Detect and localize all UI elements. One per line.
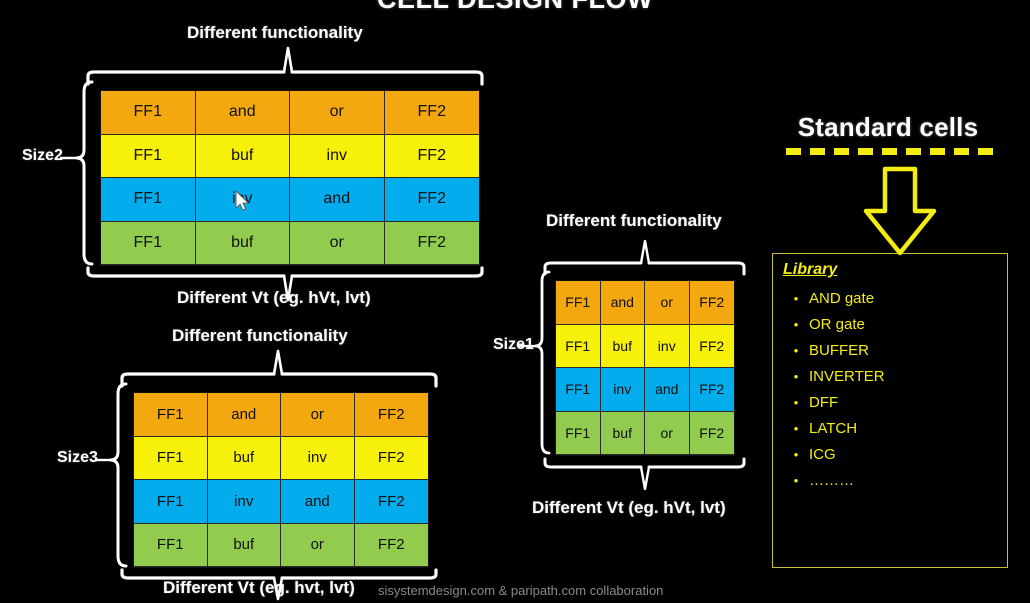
table-cell: FF1 [556,412,601,456]
table-cell: buf [208,437,282,481]
list-item-label: DFF [809,390,838,416]
table-cell: FF2 [355,480,429,524]
list-item: • ICG [783,442,998,468]
list-item-label: BUFFER [809,338,869,364]
table-cell: FF2 [690,368,735,412]
table-cell: FF2 [385,135,480,179]
caption-different-functionality-size3: Different functionality [172,326,348,346]
caption-different-functionality-size1: Different functionality [546,211,722,231]
list-item-label: AND gate [809,286,874,312]
table-cell: or [645,281,690,325]
table-cell: inv [290,135,385,179]
table-cell: and [290,178,385,222]
table-cell: FF1 [556,325,601,369]
table-cell: or [281,393,355,437]
table-cell: or [290,222,385,266]
table-cell: FF2 [385,91,480,135]
table-cell: FF1 [101,91,196,135]
label-size3: Size3 [57,449,98,467]
label-size1: Size1 [493,336,534,354]
bullet-icon: • [783,312,809,338]
list-item-label: ICG [809,442,836,468]
table-cell: or [281,524,355,568]
table-cell: FF2 [690,325,735,369]
table-cell: and [645,368,690,412]
standard-cells-heading: Standard cells [778,112,998,143]
page-title: CELL DESIGN FLOW [0,0,1030,15]
list-item: • OR gate [783,312,998,338]
table-cell: FF1 [556,368,601,412]
table-cell: FF1 [101,135,196,179]
list-item-label: INVERTER [809,364,885,390]
library-heading: Library [783,261,837,279]
library-list: • AND gate • OR gate • BUFFER • INVERTER… [783,286,998,494]
table-cell: FF1 [134,393,208,437]
slide-canvas: CELL DESIGN FLOW Different functionality… [0,0,1030,603]
table-cell: FF1 [101,178,196,222]
table-cell: FF2 [355,393,429,437]
table-cell: FF1 [134,480,208,524]
caption-different-vt-size3: Different Vt (eg. hvt, lvt) [163,578,355,598]
table-cell: and [601,281,646,325]
bullet-icon: • [783,364,809,390]
table-size2: FF1 and or FF2 FF1 buf inv FF2 FF1 inv a… [100,90,480,266]
table-cell: or [290,91,385,135]
table-cell: inv [208,480,282,524]
table-cell: FF2 [355,437,429,481]
table-cell: buf [208,524,282,568]
caption-different-vt-size2: Different Vt (eg. hVt, lvt) [177,288,371,308]
list-item: • INVERTER [783,364,998,390]
caption-different-vt-size1: Different Vt (eg. hVt, lvt) [532,498,726,518]
table-cell: or [645,412,690,456]
table-cell: and [208,393,282,437]
table-cell: FF2 [690,412,735,456]
table-cell: inv [281,437,355,481]
table-cell: inv [196,178,291,222]
table-cell: buf [601,412,646,456]
table-cell: FF2 [385,178,480,222]
table-cell: FF2 [690,281,735,325]
list-item: • ……… [783,468,998,494]
list-item: • DFF [783,390,998,416]
list-item: • BUFFER [783,338,998,364]
table-cell: buf [601,325,646,369]
down-arrow-icon [866,169,934,253]
label-size2: Size2 [22,147,63,165]
table-cell: buf [196,222,291,266]
table-cell: buf [196,135,291,179]
bullet-icon: • [783,390,809,416]
list-item: • AND gate [783,286,998,312]
table-size1: FF1 and or FF2 FF1 buf inv FF2 FF1 inv a… [555,280,735,456]
standard-cells-underline [786,148,1000,155]
table-cell: and [281,480,355,524]
library-panel: Library • AND gate • OR gate • BUFFER • … [772,253,1008,568]
table-cell: FF1 [556,281,601,325]
list-item-label: ……… [809,468,854,494]
table-cell: FF1 [134,524,208,568]
bullet-icon: • [783,468,809,494]
table-cell: and [196,91,291,135]
table-cell: FF1 [101,222,196,266]
footer-watermark: sisystemdesign.com & paripath.com collab… [378,583,663,598]
bullet-icon: • [783,338,809,364]
list-item-label: LATCH [809,416,857,442]
table-cell: inv [645,325,690,369]
caption-different-functionality-size2: Different functionality [187,23,363,43]
bullet-icon: • [783,442,809,468]
list-item: • LATCH [783,416,998,442]
table-cell: inv [601,368,646,412]
table-cell: FF2 [385,222,480,266]
bullet-icon: • [783,416,809,442]
table-size3: FF1 and or FF2 FF1 buf inv FF2 FF1 inv a… [133,392,429,568]
bullet-icon: • [783,286,809,312]
table-cell: FF2 [355,524,429,568]
list-item-label: OR gate [809,312,865,338]
table-cell: FF1 [134,437,208,481]
